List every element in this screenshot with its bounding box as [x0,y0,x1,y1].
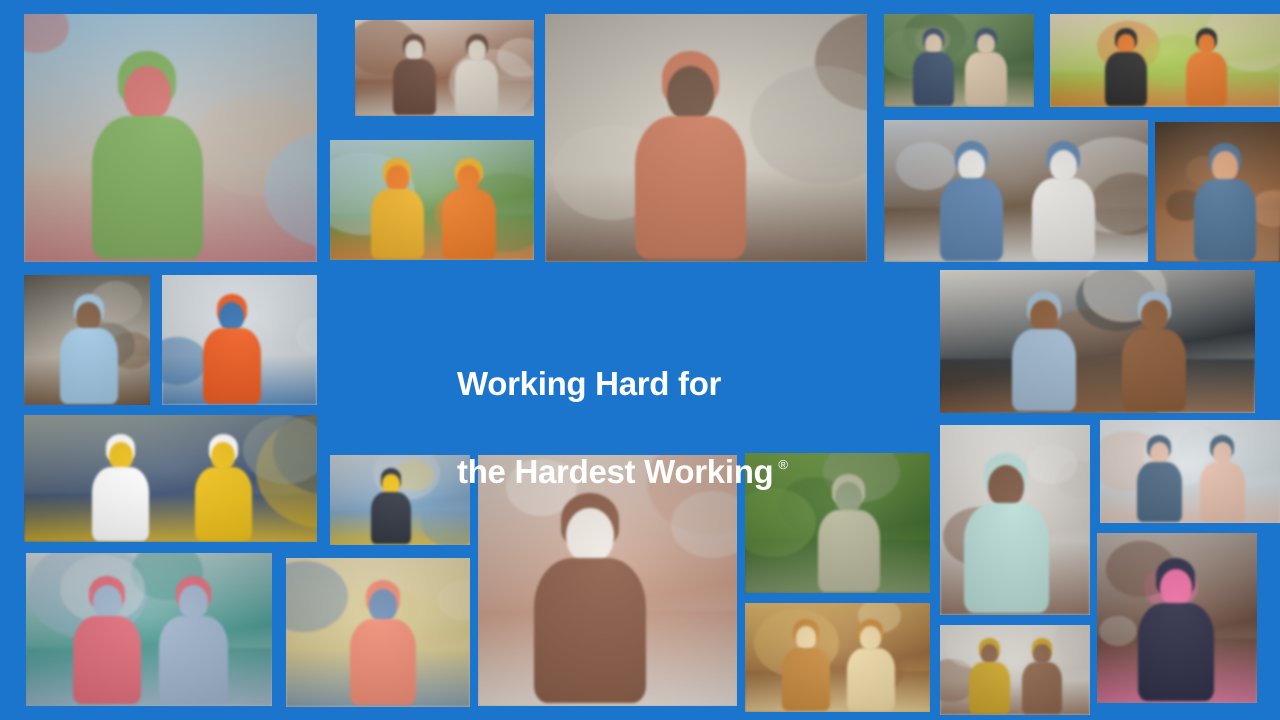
photo-warehouse-worker-blue-polo [24,275,150,405]
headline-line-2: the Hardest Working [457,453,773,490]
photo-scene [24,415,317,542]
photo-woman-smiling-indoors [940,625,1090,715]
photo-restaurant-worker-apron [1155,122,1280,262]
photo-scene [1100,420,1280,523]
photo-vignette [1155,122,1280,262]
photo-scene [940,425,1090,615]
photo-vignette [24,14,317,262]
page-headline: Working Hard for the Hardest Working® [457,318,827,537]
photo-vignette [545,14,867,262]
photo-vignette [330,140,534,260]
headline-line-1: Working Hard for [457,362,827,406]
photo-vignette [24,275,150,405]
photo-couple-embracing [940,425,1090,615]
photo-vignette [330,455,470,545]
photo-retail-worker-apron [330,455,470,545]
photo-vignette [1100,420,1280,523]
photo-family-of-four-indoors [26,553,272,706]
photo-scene [545,14,867,262]
photo-vignette [26,553,272,706]
photo-vignette [355,20,534,116]
photo-family-piggyback-kids [286,558,470,707]
photo-teacher-with-students [1050,14,1280,107]
photo-scene [286,558,470,707]
registered-trademark-icon: ® [778,457,788,472]
photo-scene [1097,533,1257,703]
photo-military-family-embrace [884,14,1034,107]
photo-vignette [1097,533,1257,703]
photo-scene [162,275,317,405]
photo-vignette [884,14,1034,107]
photo-scene [1050,14,1280,107]
photo-senior-couple [162,275,317,405]
photo-vignette [884,120,1148,262]
photo-mother-daughter-yellow [330,140,534,260]
photo-vignette [286,558,470,707]
photo-scene [940,625,1090,715]
photo-scene [884,14,1034,107]
photo-scene [24,14,317,262]
photo-scene [330,455,470,545]
photo-scene [355,20,534,116]
photo-woman-celebrating [1097,533,1257,703]
photo-vignette [1050,14,1280,107]
photo-vignette [940,625,1090,715]
photo-auto-mechanic [884,120,1148,262]
photo-vignette [940,270,1255,413]
photo-vignette [940,425,1090,615]
photo-scene [884,120,1148,262]
photo-scene [26,553,272,706]
photo-scene [940,270,1255,413]
photo-vignette [162,275,317,405]
photo-scene [1155,122,1280,262]
photo-nurse-with-child [1100,420,1280,523]
photo-family-in-field [745,603,930,712]
photo-family-of-five-outdoors [24,14,317,262]
photo-construction-workers-hardhats [24,415,317,542]
photo-scene [745,603,930,712]
collage-canvas: Working Hard for the Hardest Working® [0,0,1280,720]
photo-cafe-worker-apron [545,14,867,262]
photo-scene [330,140,534,260]
photo-office-professional [940,270,1255,413]
photo-vignette [745,603,930,712]
photo-family-with-tablet [355,20,534,116]
photo-scene [24,275,150,405]
photo-vignette [24,415,317,542]
